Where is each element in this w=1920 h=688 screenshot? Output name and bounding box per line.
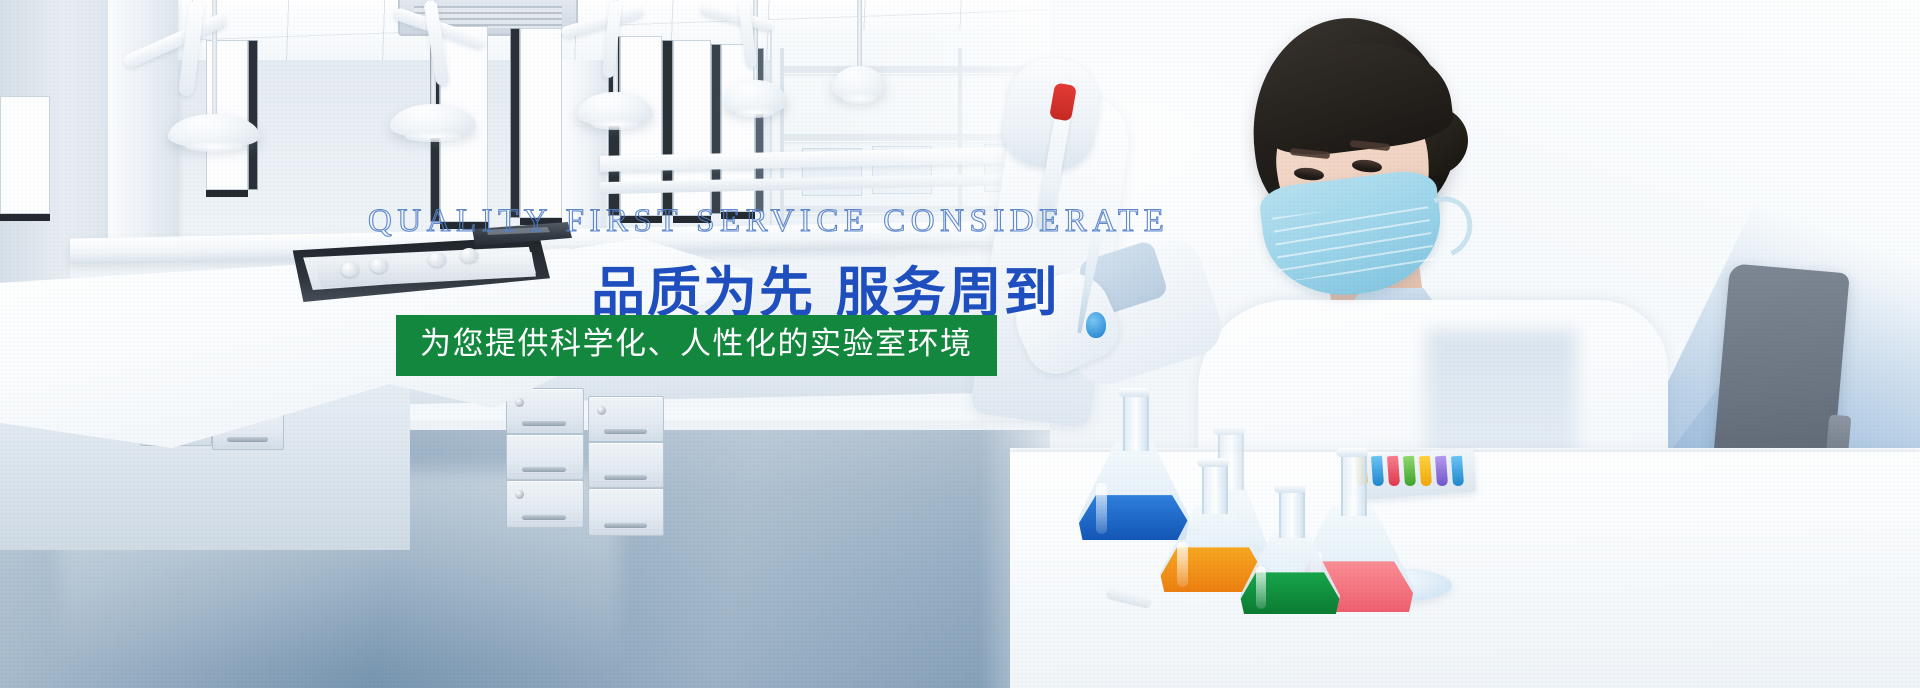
banner-eyebrow-text: QUALITY FIRST SERVICE CONSIDERATE (368, 203, 1169, 240)
hero-banner: QUALITY FIRST SERVICE CONSIDERATE 品质为先 服… (0, 0, 1920, 688)
banner-subtitle-text: 为您提供科学化、人性化的实验室环境 (420, 329, 973, 360)
banner-text-overlay: QUALITY FIRST SERVICE CONSIDERATE 品质为先 服… (0, 0, 1920, 688)
banner-subtitle-strip: 为您提供科学化、人性化的实验室环境 (396, 315, 997, 376)
